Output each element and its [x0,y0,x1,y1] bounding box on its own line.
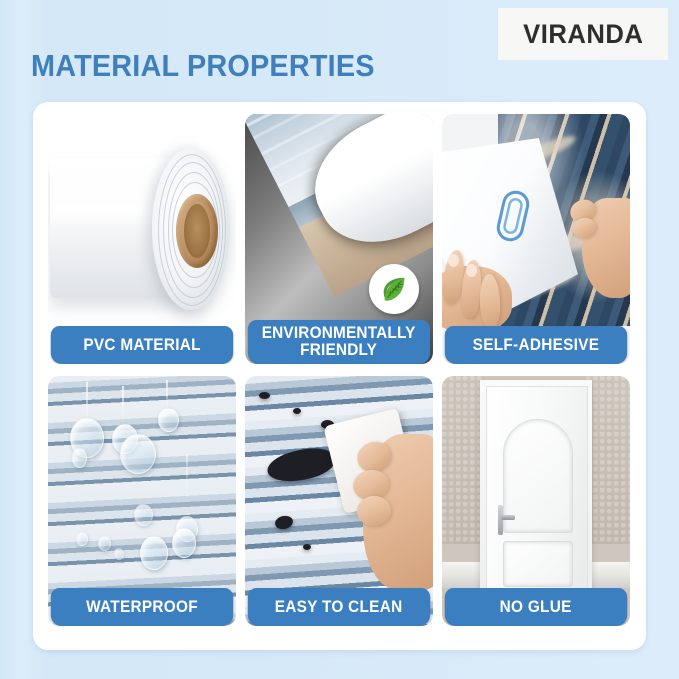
water-droplet [120,434,156,474]
feature-label-waterproof: WATERPROOF [51,588,233,626]
feature-label-text: PVC MATERIAL [83,337,200,354]
leaf-icon [379,274,409,304]
feature-label-easy-to-clean: EASY TO CLEAN [248,588,430,626]
infographic-page: VIRANDA MATERIAL PROPERTIES [0,0,679,679]
door-panel-lower [503,541,573,587]
skirting-right [586,562,630,588]
water-droplet [114,548,124,560]
skirting-left [442,562,484,588]
feature-card-self-adhesive[interactable]: SELF-ADHESIVE [442,114,630,364]
feature-label-text: SELF-ADHESIVE [473,337,600,354]
droplet-trail [186,454,188,498]
stain-spot [293,408,301,414]
feature-label-pvc-material: PVC MATERIAL [51,326,233,364]
feature-card-environmentally-friendly[interactable]: ENVIRONMENTALLY FRIENDLY [245,114,433,364]
page-title: MATERIAL PROPERTIES [31,48,375,84]
door-handle[interactable] [501,515,515,520]
brand-name: VIRANDA [523,19,643,50]
feature-panel: PVC MATERIAL [33,102,646,650]
feature-label-environmentally-friendly: ENVIRONMENTALLY FRIENDLY [248,320,430,364]
stain-spot [303,544,311,550]
vinyl-roll-graphic [48,132,236,322]
brand-logo: VIRANDA [498,8,668,60]
feature-label-line-2: FRIENDLY [262,342,416,359]
stain-spot [274,514,294,530]
wall-right [586,376,630,544]
feature-label-text: EASY TO CLEAN [275,599,403,616]
feature-grid: PVC MATERIAL [48,114,631,638]
feature-label-self-adhesive: SELF-ADHESIVE [445,326,627,364]
feature-label-text: WATERPROOF [86,599,198,616]
water-droplet [98,536,111,551]
roll-core-hole [184,204,210,258]
water-droplet [76,532,88,546]
water-droplet [134,504,153,526]
feature-label-line-1: ENVIRONMENTALLY [262,325,416,342]
water-droplet [172,528,196,558]
fingernail [448,254,459,267]
feature-card-pvc-material[interactable]: PVC MATERIAL [48,114,236,364]
feature-label-text: NO GLUE [500,599,572,616]
door-handle-plate [498,505,503,535]
fingernail [466,264,477,277]
door-frame [480,380,592,588]
feature-card-easy-to-clean[interactable]: EASY TO CLEAN [245,376,433,626]
door [486,386,588,590]
stain-spot [259,392,270,399]
water-droplet [158,408,179,432]
eco-badge [369,264,419,314]
droplet-trail [122,386,124,422]
wall-left [442,376,484,544]
water-droplet [140,536,168,570]
water-droplet [72,448,87,468]
feature-card-waterproof[interactable]: WATERPROOF [48,376,236,626]
stain-large [265,444,337,485]
feature-card-no-glue[interactable]: NO GLUE [442,376,630,626]
droplet-trail [166,380,168,410]
feature-label-no-glue: NO GLUE [445,588,627,626]
